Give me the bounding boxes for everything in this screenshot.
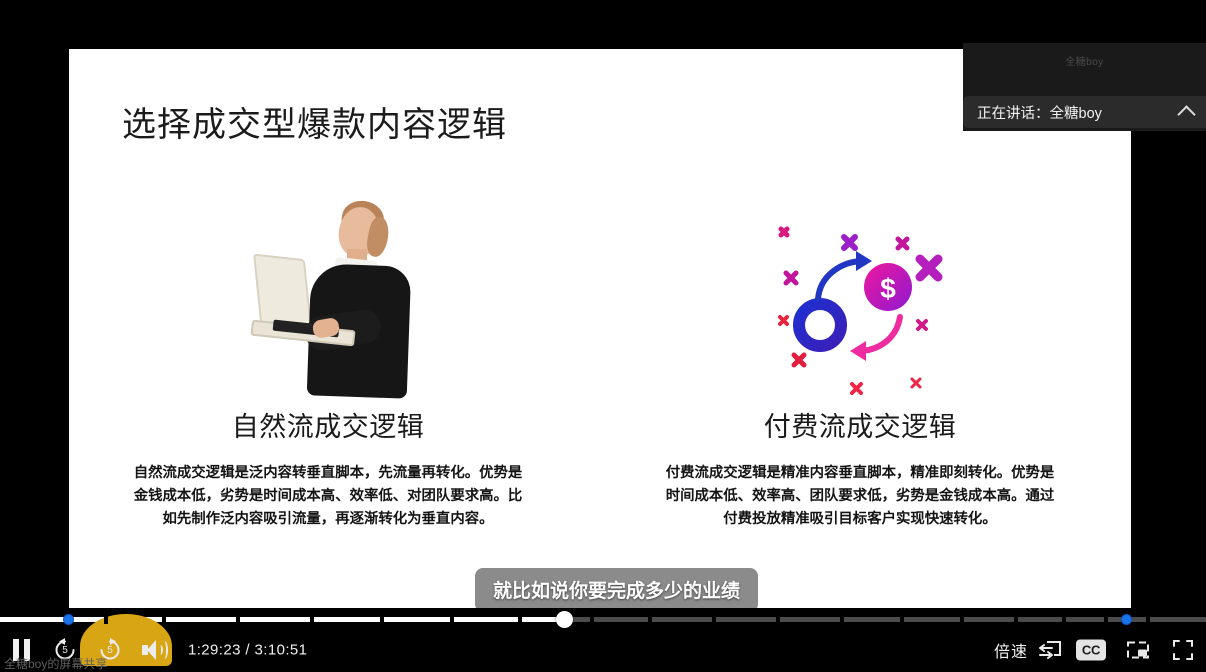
chapter-marker[interactable]	[1121, 614, 1132, 625]
column-heading: 自然流成交逻辑	[93, 405, 563, 444]
svg-text:$: $	[880, 273, 896, 304]
playback-speed-button[interactable]: 倍速	[994, 638, 1028, 662]
player-control-bar[interactable]: 5 5 1:29:23 / 3:10:51 倍速	[0, 608, 1206, 669]
column-heading: 付费流成交逻辑	[625, 405, 1095, 444]
cast-icon[interactable]	[1038, 639, 1062, 661]
time-display: 1:29:23 / 3:10:51	[188, 641, 307, 658]
shared-slide: 选择成交型爆款内容逻辑 自然流成交逻辑 自然流成	[69, 49, 1131, 608]
businesswoman-figure	[243, 201, 413, 397]
player-buttons: 5 5 1:29:23 / 3:10:51 倍速	[0, 630, 1206, 669]
now-speaking-bar[interactable]: 正在讲话：全糖boy	[963, 96, 1206, 128]
closed-captions-button[interactable]: CC	[1076, 639, 1106, 660]
screen-share-label: 全糖boy的屏幕共享	[4, 655, 107, 672]
money-flow-svg: $	[760, 199, 960, 395]
now-speaking-label: 正在讲话：全糖boy	[977, 102, 1102, 123]
picture-in-picture-icon[interactable]	[1126, 639, 1150, 660]
video-stage[interactable]: 选择成交型爆款内容逻辑 自然流成交逻辑 自然流成	[0, 0, 1206, 669]
slide-column-natural-traffic: 自然流成交逻辑 自然流成交逻辑是泛内容转垂直脚本，先流量再转化。优势是金钱成本低…	[93, 199, 563, 531]
slide-title: 选择成交型爆款内容逻辑	[122, 97, 507, 146]
businesswoman-laptop-illustration	[93, 199, 563, 399]
live-caption: 就比如说你要完成多少的业绩	[475, 568, 758, 612]
column-body-text: 自然流成交逻辑是泛内容转垂直脚本，先流量再转化。优势是金钱成本低，劣势是时间成本…	[132, 462, 524, 531]
chevron-up-icon[interactable]	[1177, 105, 1195, 123]
volume-icon[interactable]	[142, 639, 170, 661]
slide-column-paid-traffic: $ 付费流成交逻辑 付费流成交逻辑是精准内容垂直脚本，精准即刻转化。优势是时间成…	[625, 199, 1095, 531]
speaker-tile-name: 全糖boy	[963, 53, 1206, 68]
progress-bar[interactable]	[0, 608, 1206, 630]
progress-scrubber[interactable]	[556, 611, 573, 628]
progress-played	[0, 617, 562, 622]
fullscreen-icon[interactable]	[1172, 639, 1194, 661]
column-body-text: 付费流成交逻辑是精准内容垂直脚本，精准即刻转化。优势是时间成本低、效率高、团队要…	[664, 462, 1056, 531]
money-flow-illustration: $	[625, 199, 1095, 399]
chapter-marker[interactable]	[63, 614, 74, 625]
